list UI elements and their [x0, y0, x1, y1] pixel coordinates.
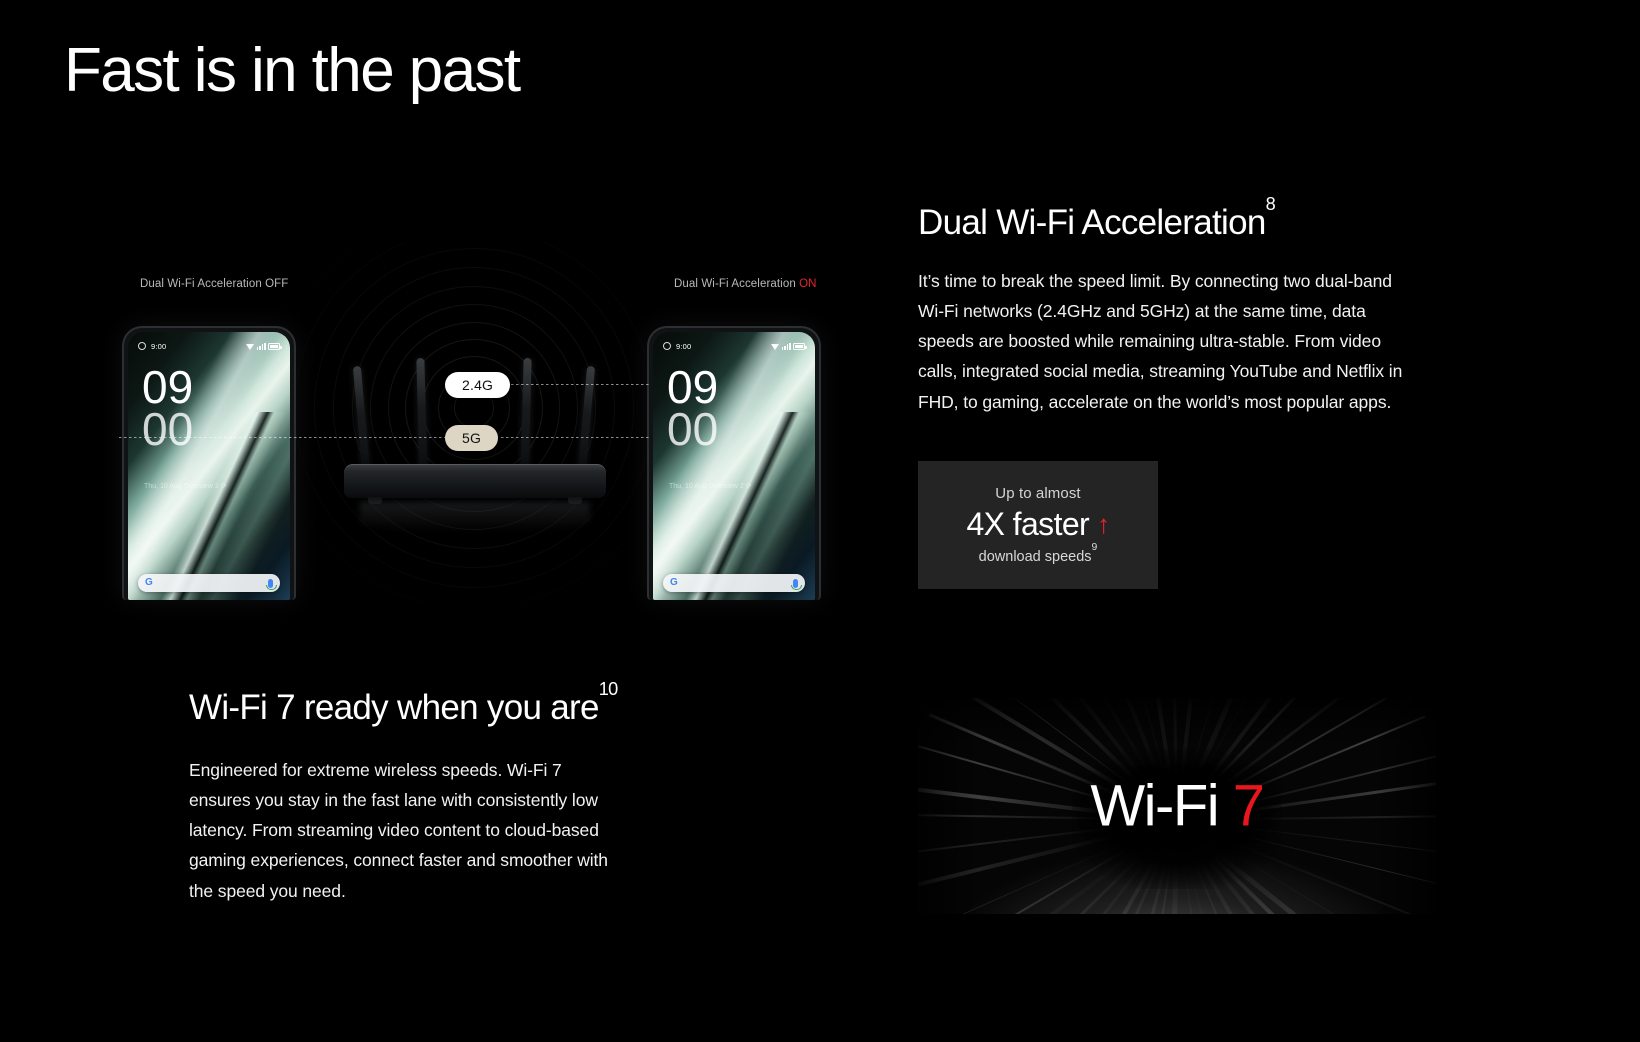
wifi7-heading-text: Wi-Fi 7 ready when you are — [189, 688, 599, 727]
stat-value: 4X faster — [966, 508, 1089, 542]
signal-icon — [257, 343, 266, 350]
google-search-bar[interactable]: G — [138, 574, 280, 592]
connector-line-24g-right — [501, 384, 649, 385]
dual-wifi-body: It’s time to break the speed limit. By c… — [918, 266, 1418, 416]
stat-bottom-text: download speeds — [979, 549, 1092, 565]
battery-icon — [268, 343, 280, 350]
connector-line-5g-right — [501, 437, 649, 438]
google-logo-icon: G — [670, 578, 678, 588]
phone-right-screen: 9:00 09 00 Thu, 10 Aug Overview 2 ⟳ G — [653, 332, 815, 600]
wifi7-text-block: Wi-Fi 7 ready when you are10 Engineered … — [189, 688, 629, 906]
page-title: Fast is in the past — [64, 40, 520, 102]
dual-wifi-heading-text: Dual Wi-Fi Acceleration — [918, 203, 1266, 242]
badge-5g: 5G — [445, 425, 498, 451]
caption-left-phone: Dual Wi-Fi Acceleration OFF — [140, 278, 288, 290]
wifi7-label-main: Wi-Fi — [1090, 774, 1232, 839]
phone-left: 9:00 09 00 Thu, 10 Aug Overview 2 ⟳ G — [122, 326, 296, 600]
microphone-icon[interactable] — [793, 579, 798, 588]
camera-punchhole-icon — [663, 342, 671, 350]
phone-right: 9:00 09 00 Thu, 10 Aug Overview 2 ⟳ G — [647, 326, 821, 600]
dual-wifi-heading: Dual Wi-Fi Acceleration8 — [918, 203, 1418, 242]
signal-icon — [782, 343, 791, 350]
google-logo-icon: G — [145, 578, 153, 588]
microphone-icon[interactable] — [268, 579, 273, 588]
router-reflection — [360, 502, 590, 532]
hero-media-comparison: Dual Wi-Fi Acceleration OFF Dual Wi-Fi A… — [64, 250, 884, 600]
wifi7-label-accent: 7 — [1233, 774, 1264, 839]
clock-minutes: 00 — [667, 408, 718, 450]
phone-left-status-bar: 9:00 — [128, 339, 290, 353]
caption-right-prefix: Dual Wi-Fi Acceleration — [674, 278, 799, 290]
phone-left-screen: 9:00 09 00 Thu, 10 Aug Overview 2 ⟳ G — [128, 332, 290, 600]
stat-card-download-speed: Up to almost 4X faster ↑ download speeds… — [918, 461, 1158, 589]
caption-right-phone: Dual Wi-Fi Acceleration ON — [674, 278, 817, 290]
dual-wifi-text-block: Dual Wi-Fi Acceleration8 It’s time to br… — [918, 203, 1418, 417]
wifi7-heading: Wi-Fi 7 ready when you are10 — [189, 688, 629, 727]
lockscreen-subtext: Thu, 10 Aug Overview 2 ⟳ — [144, 482, 227, 493]
phone-right-status-bar: 9:00 — [653, 339, 815, 353]
arrow-up-icon: ↑ — [1097, 511, 1109, 537]
product-page: Fast is in the past Dual Wi-Fi Accelerat… — [0, 0, 1640, 1042]
status-time: 9:00 — [676, 342, 691, 351]
clock-hours: 09 — [667, 366, 718, 408]
wifi7-panel-label: Wi-Fi 7 — [918, 773, 1436, 840]
wifi-icon — [771, 343, 779, 350]
stat-value-row: 4X faster ↑ — [966, 508, 1109, 542]
clock-minutes: 00 — [142, 408, 193, 450]
stat-bottom-superscript: 9 — [1092, 542, 1098, 553]
caption-right-state: ON — [799, 278, 816, 290]
wifi-icon — [246, 343, 254, 350]
battery-icon — [793, 343, 805, 350]
router-body — [344, 464, 606, 498]
lockscreen-clock: 09 00 — [667, 366, 718, 451]
connector-line-5g-left — [119, 437, 446, 438]
wifi7-heading-superscript: 10 — [599, 679, 618, 699]
clock-hours: 09 — [142, 366, 193, 408]
stat-top-label: Up to almost — [995, 485, 1080, 502]
google-search-bar[interactable]: G — [663, 574, 805, 592]
wifi7-image-panel: Wi-Fi 7 — [918, 698, 1436, 914]
lockscreen-subtext: Thu, 10 Aug Overview 2 ⟳ — [669, 482, 752, 493]
dual-wifi-heading-superscript: 8 — [1266, 194, 1275, 214]
badge-2-4g: 2.4G — [445, 372, 510, 398]
stat-bottom-label: download speeds9 — [979, 547, 1098, 565]
wifi7-body: Engineered for extreme wireless speeds. … — [189, 755, 621, 905]
camera-punchhole-icon — [138, 342, 146, 350]
status-time: 9:00 — [151, 342, 166, 351]
